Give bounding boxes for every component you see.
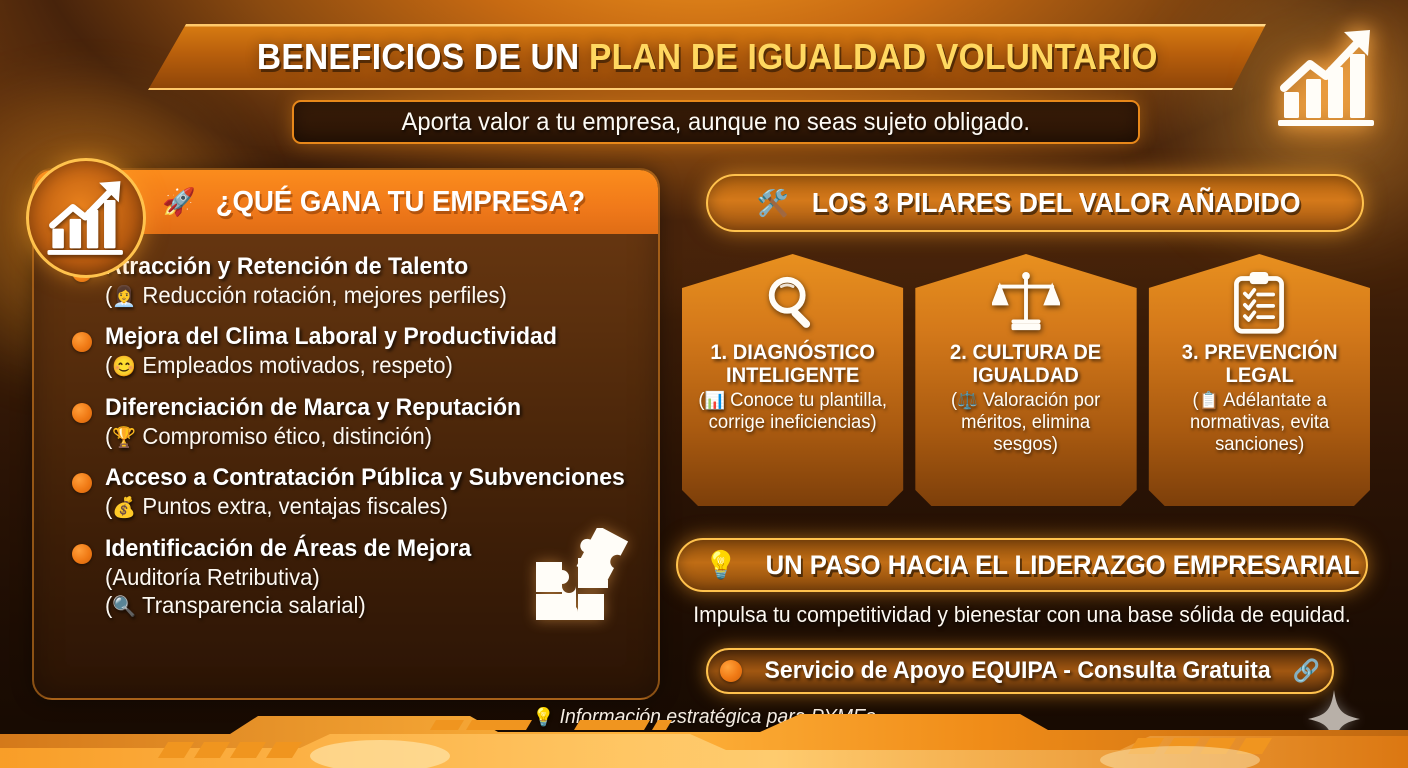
left-panel-title: ¿QUÉ GANA TU EMPRESA? (215, 186, 584, 219)
page-title-primary: BENEFICIOS DE UN (257, 36, 589, 77)
pillar-sub: (📋 Adélantate a normativas, evita sancio… (1162, 390, 1357, 456)
infographic-canvas: BENEFICIOS DE UN PLAN DE IGUALDAD VOLUNT… (0, 0, 1408, 768)
list-item-sub-text: Compromiso ético, distinción (142, 423, 424, 449)
puzzle-pieces-icon (530, 528, 636, 632)
pillar-sub: (📊 Conoce tu plantilla, corrige ineficie… (695, 390, 890, 434)
bullet-icon (72, 473, 92, 493)
clipboard-check-icon (1231, 266, 1287, 340)
list-item: Diferenciación de Marca y Reputación (🏆 … (56, 395, 640, 450)
pillars-row: 1. DIAGNÓSTICO INTELIGENTE (📊 Conoce tu … (682, 254, 1370, 506)
list-item-title: Atracción y Retención de Talento (105, 254, 619, 281)
list-item-sub-text: Transparencia salarial (142, 592, 358, 618)
cta-button[interactable]: Servicio de Apoyo EQUIPA - Consulta Grat… (706, 648, 1334, 694)
list-item: Atracción y Retención de Talento (👩‍💼 Re… (56, 254, 640, 309)
bar-chart-icon: 📊 (705, 391, 726, 410)
clipboard-icon: 📋 (1198, 391, 1219, 410)
pillars-header-title: LOS 3 PILARES DEL VALOR AÑADIDO (812, 187, 1301, 219)
magnifier-icon (762, 266, 824, 340)
list-item-sub: (💰 Puntos extra, ventajas fiscales) (105, 493, 619, 521)
magnifier-icon: 🔍 (112, 596, 136, 618)
bullet-icon (720, 660, 742, 682)
link-icon: 🔗 (1293, 660, 1320, 682)
list-item-sub-text: Reducción rotación, mejores perfiles (142, 282, 499, 308)
subtitle-pill: Aporta valor a tu empresa, aunque no sea… (292, 100, 1140, 144)
money-bag-icon: 💰 (112, 497, 136, 519)
subtitle-text: Aporta valor a tu empresa, aunque no sea… (402, 108, 1030, 137)
cta-header: 💡 UN PASO HACIA EL LIDERAZGO EMPRESARIAL (676, 538, 1368, 592)
cta-button-label: Servicio de Apoyo EQUIPA - Consulta Grat… (764, 657, 1270, 685)
title-banner: BENEFICIOS DE UN PLAN DE IGUALDAD VOLUNT… (148, 24, 1266, 90)
pillar-title: 3. PREVENCIÓN LEGAL (1163, 342, 1356, 387)
page-title: BENEFICIOS DE UN PLAN DE IGUALDAD VOLUNT… (257, 36, 1158, 78)
lightbulb-icon: 💡 (704, 552, 738, 579)
list-item-title: Acceso a Contratación Pública y Subvenci… (105, 465, 619, 492)
footer-note: 💡 Información estratégica para PYMEs (21, 706, 1387, 729)
list-item: Acceso a Contratación Pública y Subvenci… (56, 465, 640, 520)
pillar-title: 1. DIAGNÓSTICO INTELIGENTE (696, 342, 889, 387)
lightbulb-icon: 💡 (532, 707, 554, 727)
page-title-accent: PLAN DE IGUALDAD VOLUNTARIO (589, 36, 1158, 77)
bullet-icon (72, 544, 92, 564)
cta-header-title: UN PASO HACIA EL LIDERAZGO EMPRESARIAL (765, 550, 1359, 581)
smiley-icon: 😊 (112, 356, 136, 378)
growth-chart-icon (45, 179, 127, 257)
pillar-card-2: 2. CULTURA DE IGUALDAD (⚖️ Valoración po… (915, 254, 1136, 506)
pillar-card-1: 1. DIAGNÓSTICO INTELIGENTE (📊 Conoce tu … (682, 254, 903, 506)
balance-scale-icon: ⚖️ (957, 391, 978, 410)
pillar-sub: (⚖️ Valoración por méritos, elimina sesg… (928, 390, 1123, 456)
scales-icon (992, 266, 1060, 340)
list-item-sub: (😊 Empleados motivados, respeto) (105, 352, 619, 380)
list-item-title: Diferenciación de Marca y Reputación (105, 395, 619, 422)
bullet-icon (72, 332, 92, 352)
pillar-sub-text: Conoce tu plantilla, corrige ineficienci… (709, 390, 887, 433)
pillar-sub-text: Valoración por méritos, elimina sesgos (961, 390, 1100, 455)
pillar-card-3: 3. PREVENCIÓN LEGAL (📋 Adélantate a norm… (1149, 254, 1370, 506)
footer-text: Información estratégica para PYMEs (560, 706, 876, 728)
rocket-icon: 🚀 (162, 189, 196, 216)
trophy-icon: 🏆 (112, 427, 136, 449)
growth-chart-icon (1274, 26, 1384, 130)
list-item-title: Mejora del Clima Laboral y Productividad (105, 324, 619, 351)
list-item-sub: (🏆 Compromiso ético, distinción) (105, 423, 619, 451)
pillars-header: 🛠️ LOS 3 PILARES DEL VALOR AÑADIDO (706, 174, 1364, 232)
sparkle-icon (1308, 690, 1360, 748)
tools-icon: 🛠️ (757, 190, 789, 216)
list-item-sub-text: Empleados motivados, respeto (142, 352, 445, 378)
person-icon: 👩‍💼 (112, 286, 136, 308)
list-item-sub-text: Puntos extra, ventajas fiscales (142, 493, 440, 519)
pillar-title: 2. CULTURA DE IGUALDAD (929, 342, 1122, 387)
cta-description: Impulsa tu competitividad y bienestar co… (690, 602, 1354, 628)
bullet-icon (72, 403, 92, 423)
list-item: Mejora del Clima Laboral y Productividad… (56, 324, 640, 379)
left-panel-badge (26, 158, 146, 278)
list-item-sub: (👩‍💼 Reducción rotación, mejores perfile… (105, 282, 619, 310)
